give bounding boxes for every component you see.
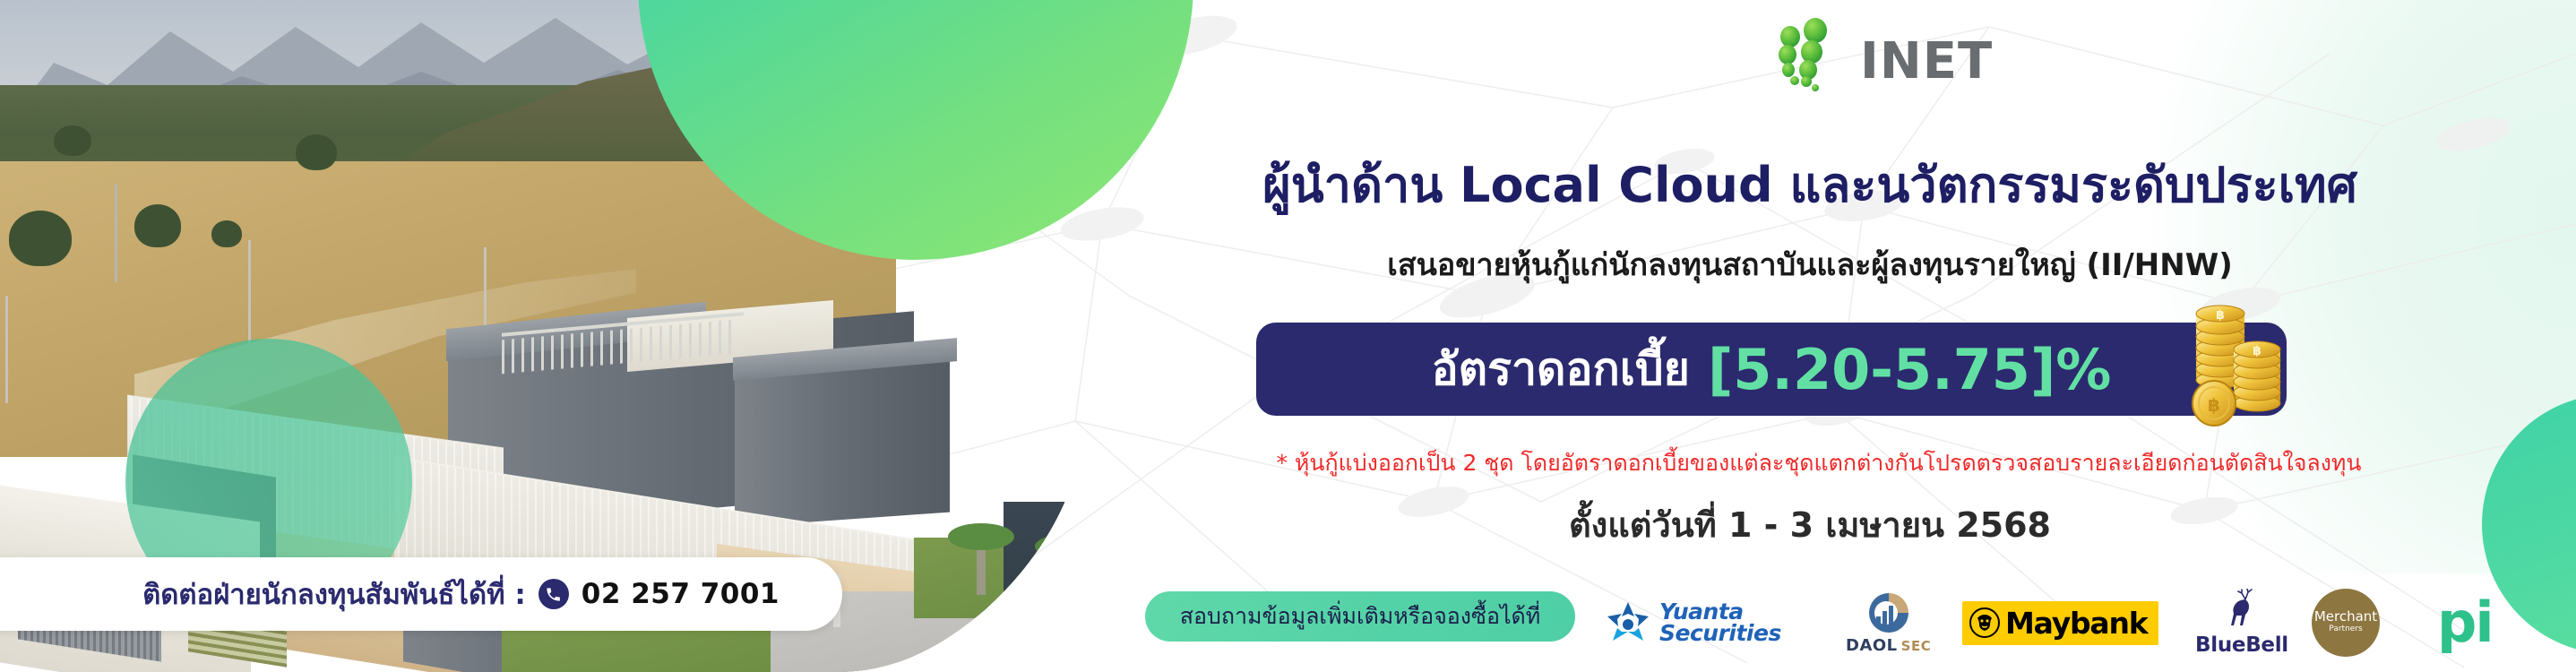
contact-label: ติดต่อฝ่ายนักลงทุนสัมพันธ์ได้ที่ : [142,572,526,616]
contact-phone-number: 02 257 7001 [582,578,780,610]
merchant-line2: Partners [2329,624,2362,636]
inet-logo-dots-icon [1754,18,1862,93]
bluebell-wordmark: BlueBell [2195,633,2288,657]
gold-coin-stack-icon: ฿ ฿ ฿ [2189,296,2296,430]
yuanta-star-icon [1604,599,1652,647]
yuanta-line2: Securities [1659,623,1781,644]
interest-rate-box: อัตราดอกเบี้ย [5.20-5.75]% [1256,323,2287,416]
maybank-wordmark: Maybank [2005,606,2148,641]
merchant-circle-icon: Merchant Partners [2312,589,2380,657]
bluebell-deer-icon [2221,589,2262,632]
offer-dateline: ตั้งแต่วันที่ 1 - 3 เมษายน 2568 [1156,497,2464,552]
pi-wordmark: pi [2437,603,2493,642]
svg-text:฿: ฿ [2216,308,2225,323]
daol-line2: SEC [1901,638,1932,654]
disclaimer-text: * หุ้นกู้แบ่งออกเป็น 2 ชุด โดยอัตราดอกเบ… [1120,445,2518,481]
inet-logo[interactable]: INET [1754,18,2059,93]
investor-relations-contact-box: ติดต่อฝ่ายนักลงทุนสัมพันธ์ได้ที่ : 02 25… [0,557,842,631]
partner-merchant-partners[interactable]: Merchant Partners [2312,584,2380,661]
svg-text:฿: ฿ [2253,344,2262,358]
daol-pie-chart-icon [1865,591,1912,634]
daol-line1: DAOL [1846,636,1898,655]
inet-bond-offering-banner: INET ผู้นำด้าน Local Cloud และนวัตกรรมระ… [0,0,2576,672]
subtitle: เสนอขายหุ้นกู้แก่นักลงทุนสถาบันและผู้ลงท… [1156,240,2464,289]
enquiry-cta-button[interactable]: สอบถามข้อมูลเพิ่มเติมหรือจองซื้อได้ที่ [1145,591,1575,642]
partner-daol-sec[interactable]: DAOL SEC [1846,584,1931,661]
maybank-tiger-icon [1969,607,2000,638]
svg-text:฿: ฿ [2208,394,2220,416]
inet-logo-wordmark: INET [1860,32,1993,90]
partner-bluebell[interactable]: BlueBell [2195,584,2288,661]
partner-logo-row: Yuanta Securities DAOL SEC [1604,584,2554,661]
interest-rate-label: อัตราดอกเบี้ย [1432,334,1690,405]
phone-icon [538,579,569,609]
partner-yuanta-securities[interactable]: Yuanta Securities [1604,584,1781,661]
partner-pi[interactable]: pi [2437,584,2493,661]
headline: ผู้นำด้าน Local Cloud และนวัตกรรมระดับปร… [1156,158,2464,213]
merchant-line1: Merchant [2314,610,2377,624]
interest-rate-value: [5.20-5.75]% [1708,337,2111,402]
partner-maybank[interactable]: Maybank [1962,584,2158,661]
